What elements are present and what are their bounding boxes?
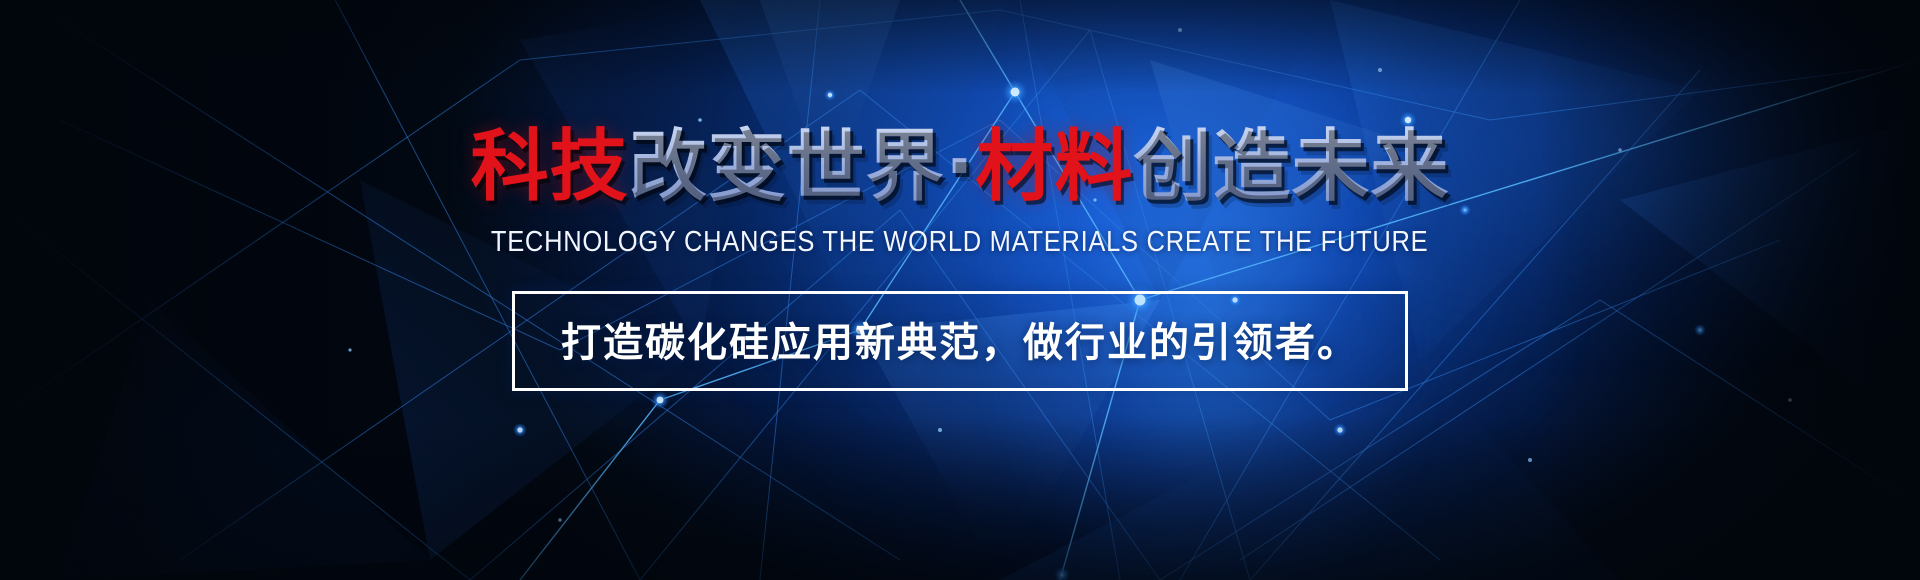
slogan-box: 打造碳化硅应用新典范，做行业的引领者。 xyxy=(512,291,1408,391)
hero-banner: 科技改变世界·材料创造未来 TECHNOLOGY CHANGES THE WOR… xyxy=(0,0,1920,580)
banner-headline: 科技改变世界·材料创造未来 xyxy=(471,128,1450,206)
headline-segment-2: 改变世界· xyxy=(629,122,976,212)
banner-subtitle: TECHNOLOGY CHANGES THE WORLD MATERIALS C… xyxy=(491,226,1428,259)
slogan-text: 打造碳化硅应用新典范，做行业的引领者。 xyxy=(561,310,1359,368)
headline-segment-4: 创造未来 xyxy=(1133,122,1449,212)
headline-segment-1: 科技 xyxy=(471,122,629,212)
headline-segment-3: 材料 xyxy=(975,122,1133,212)
banner-content: 科技改变世界·材料创造未来 TECHNOLOGY CHANGES THE WOR… xyxy=(0,0,1920,580)
